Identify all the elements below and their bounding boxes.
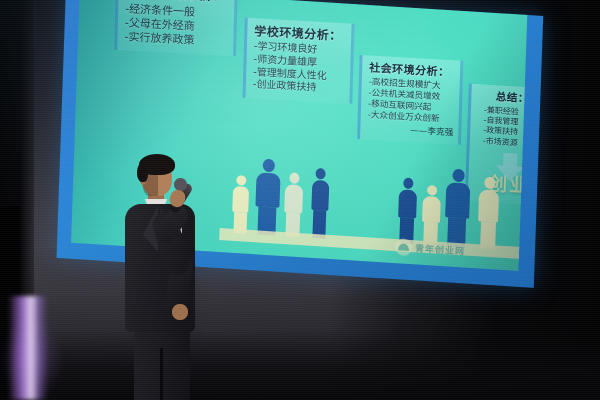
silhouette-figure (419, 185, 443, 246)
presenter-hair-side (137, 162, 148, 182)
logo-circle-icon (395, 238, 413, 256)
panel-family-analysis: 家庭环境分析： -经济条件一般 -父母在外经商 -实行放养政策 (114, 0, 238, 56)
panel-summary-title: 总结： (478, 88, 527, 107)
dark-floor-area (0, 330, 600, 400)
silhouette-figure (229, 175, 251, 234)
presenter-leg-seam (160, 348, 163, 400)
stage-light-streak (8, 296, 48, 400)
silhouette-figure (475, 176, 501, 249)
panel-school-analysis: 学校环境分析： -学习环境良好 -师资力量雄厚 -管理制度人性化 -创业政策扶持 (242, 18, 354, 104)
silhouette-figure (307, 168, 331, 239)
watermark-logo: 青年创业网 (395, 238, 465, 259)
presenter-hand-lower (172, 304, 188, 320)
silhouette-figure (281, 172, 305, 237)
watermark-text: 青年创业网 (415, 241, 465, 257)
silhouette-figure (443, 168, 472, 248)
silhouette-figure (395, 177, 419, 244)
silhouette-figure (253, 158, 282, 236)
stage-photo: 家庭环境分析： -经济条件一般 -父母在外经商 -实行放养政策 学校环境分析： … (0, 0, 600, 400)
presenter (112, 152, 230, 400)
people-silhouettes: 青年创业网 (220, 104, 528, 253)
